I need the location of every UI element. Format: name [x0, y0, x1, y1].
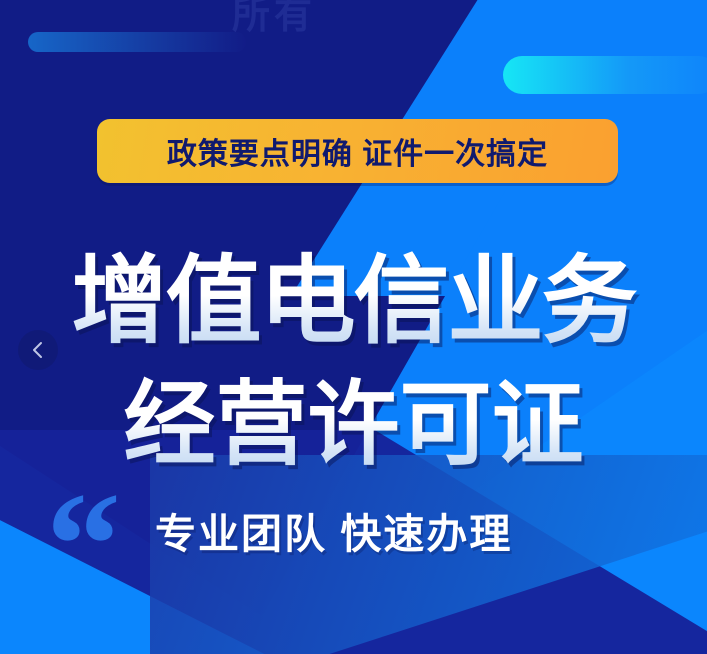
tagline-text: 政策要点明确 证件一次搞定: [167, 129, 548, 173]
quote-mark-icon: “: [46, 470, 121, 620]
tagline-ribbon: 政策要点明确 证件一次搞定: [97, 119, 618, 183]
subtitle-text: 专业团队 快速办理: [155, 500, 512, 560]
headline-line-1: 增值电信业务: [0, 223, 707, 362]
decor-pill-left: [28, 32, 246, 52]
decor-pill-right: [503, 56, 707, 94]
chevron-left-icon: [31, 340, 45, 360]
carousel-prev-button[interactable]: [18, 330, 58, 370]
watermark-text: 所有: [232, 0, 316, 39]
promo-banner: 所有 政策要点明确 证件一次搞定 增值电信业务 经营许可证 “ 专业团队 快速办…: [0, 0, 707, 654]
